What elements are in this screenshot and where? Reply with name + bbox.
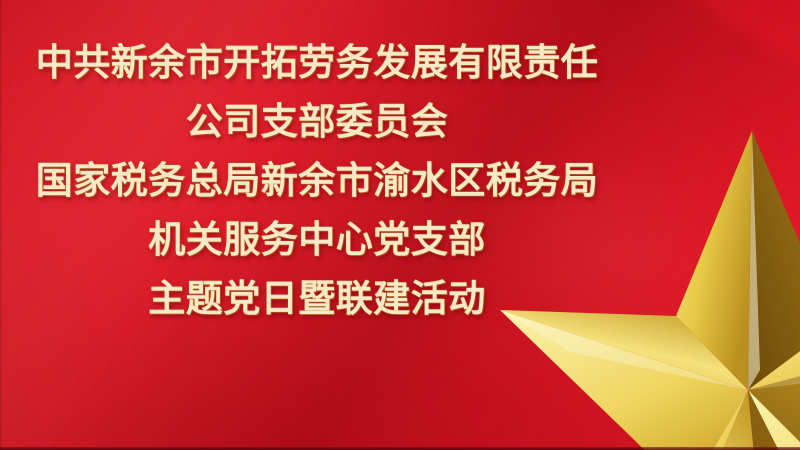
poster-title-block: 中共新余市开拓劳务发展有限责任 公司支部委员会 国家税务总局新余市渝水区税务局 …: [0, 44, 634, 317]
poster-title-line-1: 中共新余市开拓劳务发展有限责任: [0, 44, 634, 81]
poster-title-line-5: 主题党日暨联建活动: [0, 280, 634, 317]
poster-title-line-3: 国家税务总局新余市渝水区税务局: [0, 162, 634, 199]
poster-canvas: 中共新余市开拓劳务发展有限责任 公司支部委员会 国家税务总局新余市渝水区税务局 …: [0, 0, 800, 450]
poster-title-line-2: 公司支部委员会: [0, 103, 634, 140]
poster-title-line-4: 机关服务中心党支部: [0, 221, 634, 258]
